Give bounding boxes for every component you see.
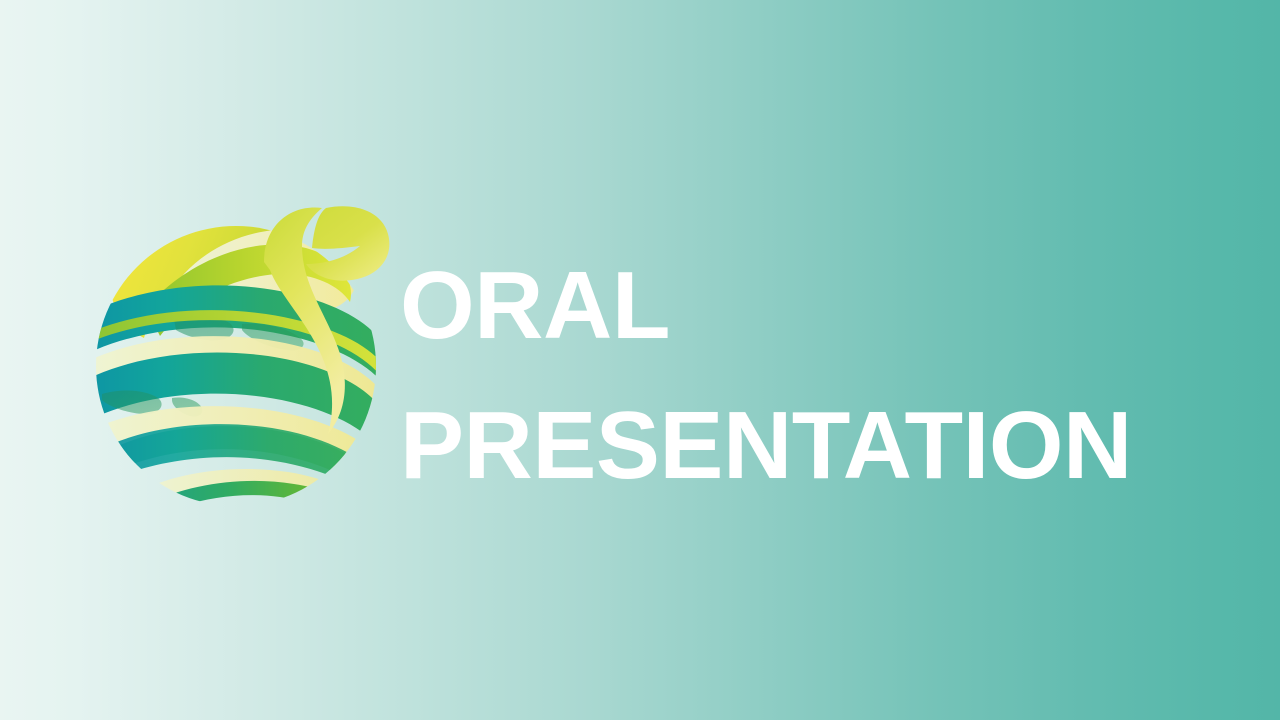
globe-ribbon-cream-4 bbox=[134, 469, 376, 524]
page-title-line-2: PRESENTATION bbox=[400, 376, 1220, 516]
title-slide: ORAL PRESENTATION bbox=[0, 0, 1280, 720]
globe-leaf-icon bbox=[306, 206, 389, 280]
slide-title-block: ORAL PRESENTATION bbox=[400, 236, 1220, 516]
globe-ribbon-leaf-logo bbox=[88, 198, 388, 518]
page-title-line-1: ORAL bbox=[400, 236, 1220, 376]
